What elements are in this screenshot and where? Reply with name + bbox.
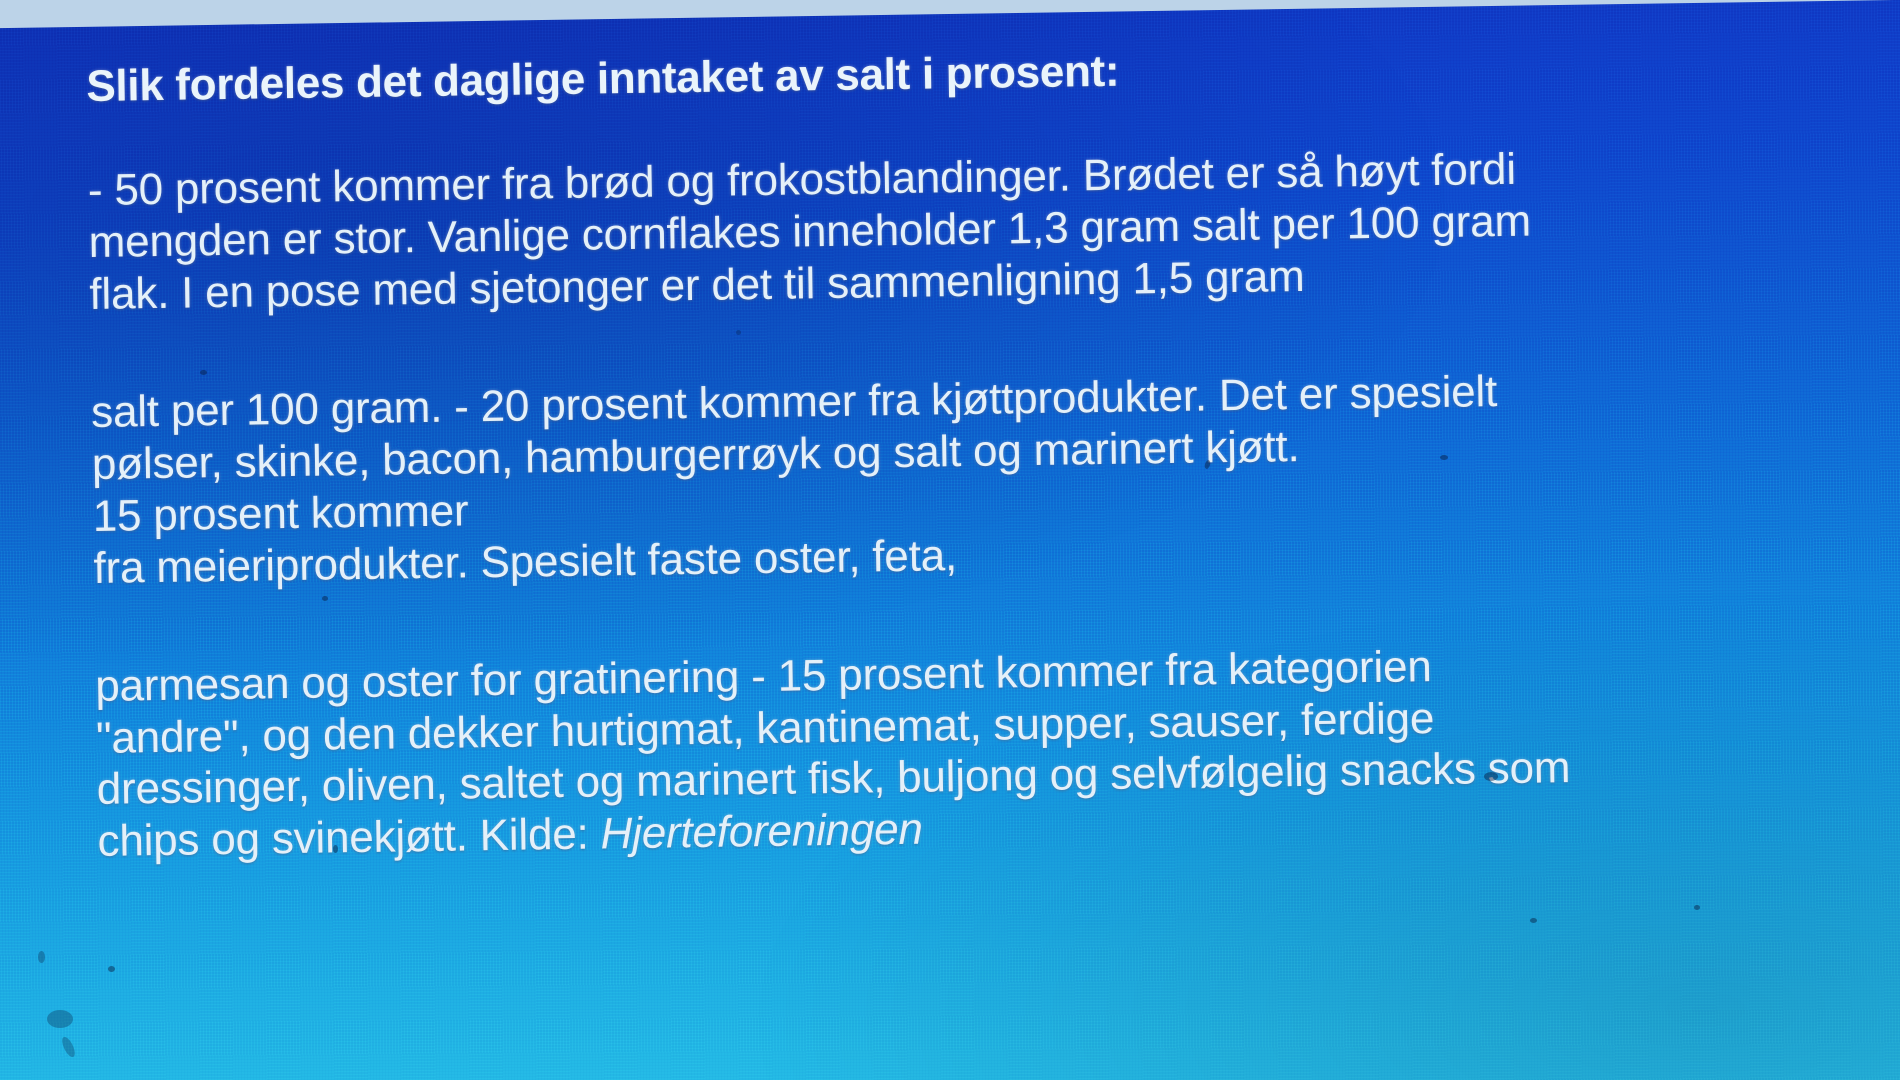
paragraph-bread: - 50 prosent kommer fra brød og frokostb… — [88, 139, 1880, 321]
slide-content: Slik fordeles det daglige inntaket av sa… — [86, 35, 1888, 868]
source-attribution: Hjerteforeningen — [600, 805, 923, 859]
source-prefix-text: chips og svinekjøtt. Kilde: — [97, 810, 601, 866]
paragraph-meat-dairy: salt per 100 gram. - 20 prosent kommer f… — [91, 360, 1884, 594]
paragraph-other: parmesan og oster for gratinering - 15 p… — [95, 634, 1888, 868]
screenshot-root: Slik fordeles det daglige inntaket av sa… — [0, 0, 1900, 1080]
